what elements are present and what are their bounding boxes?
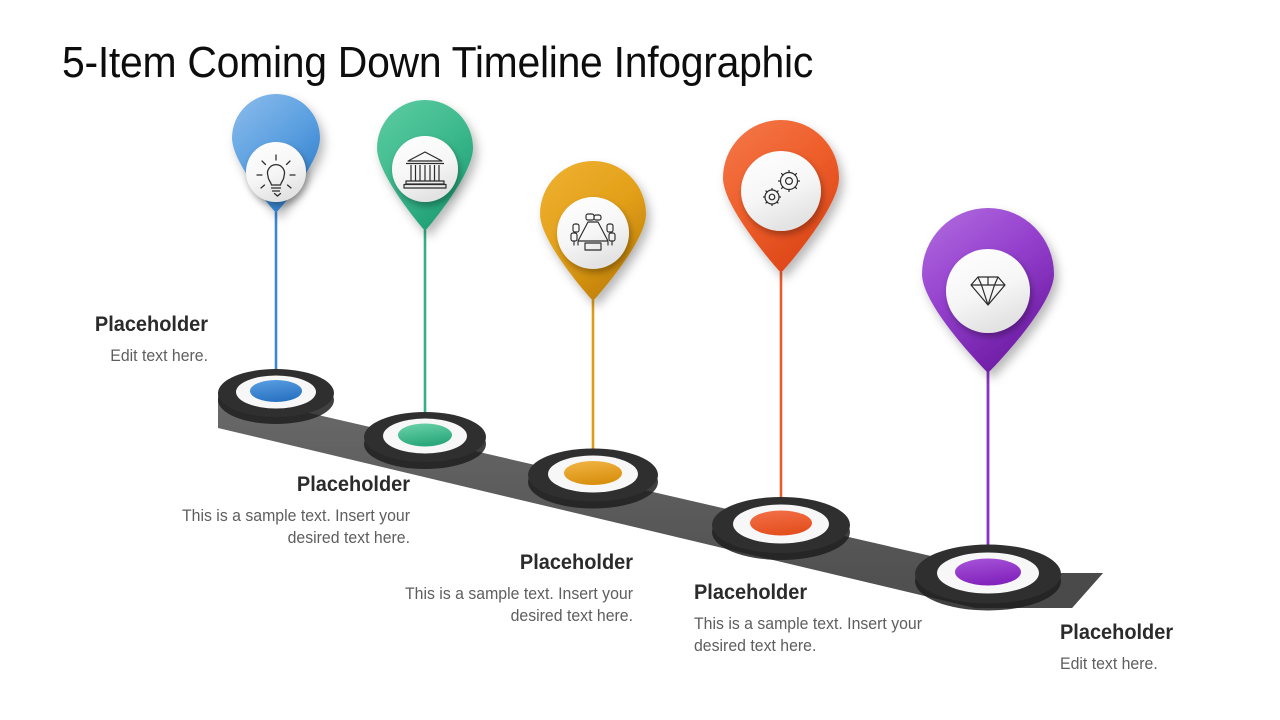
station-disc-4 <box>712 497 850 560</box>
caption-heading: Placeholder <box>1060 621 1269 645</box>
caption-heading: Placeholder <box>694 581 932 605</box>
caption-2: Placeholder This is a sample text. Inser… <box>160 473 410 549</box>
caption-body: Edit text here. <box>1060 654 1271 675</box>
timeline-node-4[interactable] <box>712 120 850 560</box>
caption-1: Placeholder Edit text here. <box>18 313 208 368</box>
caption-body: This is a sample text. Insert your desir… <box>393 584 633 627</box>
station-disc-3 <box>528 449 658 509</box>
caption-body: This is a sample text. Insert your desir… <box>170 506 410 549</box>
station-disc-1 <box>218 369 334 424</box>
caption-heading: Placeholder <box>396 551 634 575</box>
caption-5: Placeholder Edit text here. <box>1060 621 1280 676</box>
caption-heading: Placeholder <box>28 313 209 337</box>
timeline-node-5[interactable] <box>915 208 1061 611</box>
timeline-node-2[interactable] <box>364 100 486 469</box>
caption-body: Edit text here. <box>26 346 208 367</box>
caption-4: Placeholder This is a sample text. Inser… <box>694 581 944 657</box>
timeline-node-3[interactable] <box>528 161 658 509</box>
timeline-node-1[interactable] <box>218 94 334 424</box>
station-disc-2 <box>364 412 486 469</box>
caption-heading: Placeholder <box>173 473 411 497</box>
caption-body: This is a sample text. Insert your desir… <box>694 614 934 657</box>
infographic-slide: 5-Item Coming Down Timeline Infographic <box>0 0 1280 720</box>
caption-3: Placeholder This is a sample text. Inser… <box>383 551 633 627</box>
